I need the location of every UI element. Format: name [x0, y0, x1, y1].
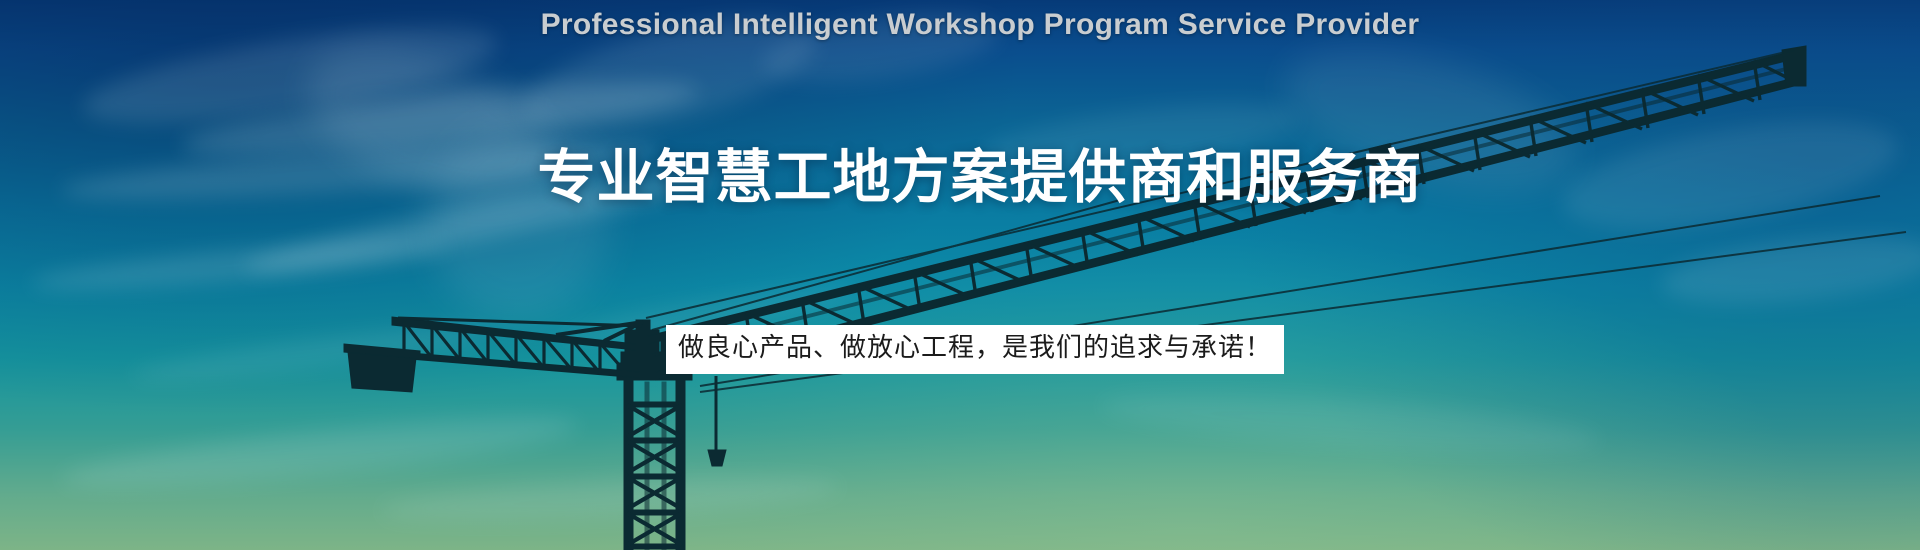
tower-crane-icon	[0, 0, 1920, 550]
banner-subtitle: 做良心产品、做放心工程，是我们的追求与承诺！	[666, 325, 1284, 374]
banner-english-title: Professional Intelligent Workshop Progra…	[0, 8, 1920, 42]
hero-banner: Professional Intelligent Workshop Progra…	[0, 0, 1920, 550]
banner-subtitle-container: 做良心产品、做放心工程，是我们的追求与承诺！	[0, 325, 1920, 374]
banner-chinese-title: 专业智慧工地方案提供商和服务商	[0, 130, 1920, 214]
